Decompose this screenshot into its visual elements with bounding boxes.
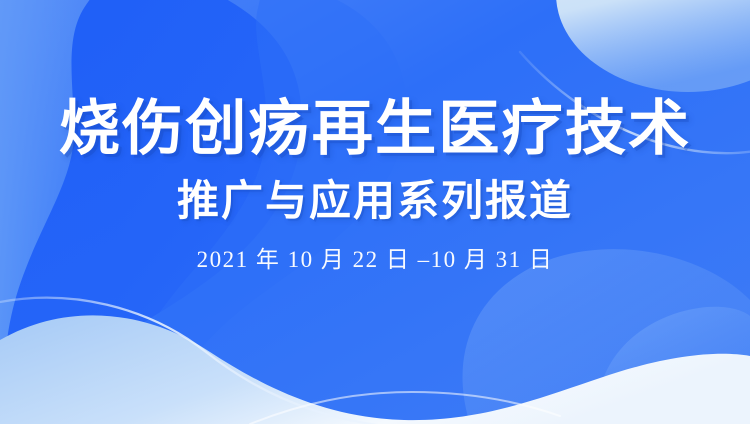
banner-date-range: 2021 年 10 月 22 日 –10 月 31 日: [197, 248, 554, 271]
banner-subtitle: 推广与应用系列报道: [177, 180, 573, 222]
banner-content: 烧伤创疡再生医疗技术 推广与应用系列报道 2021 年 10 月 22 日 –1…: [0, 0, 750, 424]
promo-banner: 烧伤创疡再生医疗技术 推广与应用系列报道 2021 年 10 月 22 日 –1…: [0, 0, 750, 424]
banner-title: 烧伤创疡再生医疗技术: [59, 99, 691, 159]
